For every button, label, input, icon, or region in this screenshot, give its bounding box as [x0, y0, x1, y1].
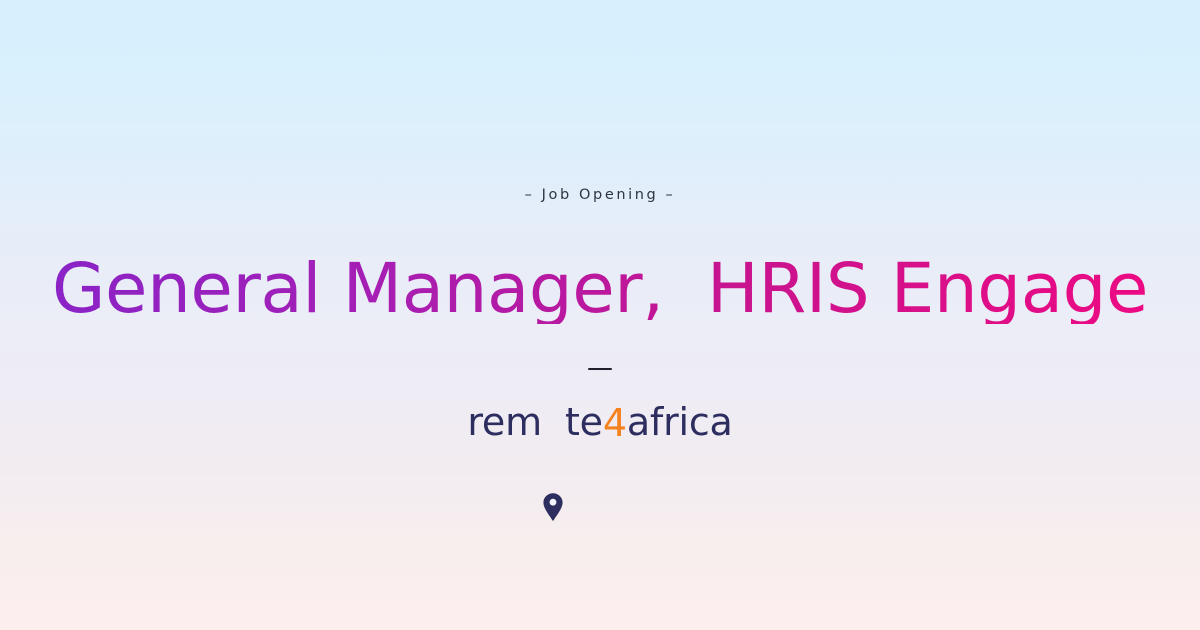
brand-numeral-four: 4	[603, 401, 627, 445]
job-opening-og-card: – Job Opening – General Manager, HRIS En…	[0, 0, 1200, 630]
job-title-block: General Manager, HRIS Engage	[0, 255, 1200, 324]
brand-prefix: rem	[467, 400, 542, 444]
job-title: General Manager, HRIS Engage	[52, 255, 1148, 324]
eyebrow-label: – Job Opening –	[0, 187, 1200, 203]
section-divider	[588, 368, 612, 370]
brand-middle: te	[565, 400, 603, 444]
brand-suffix: africa	[627, 400, 733, 444]
brand-logo[interactable]: rem te 4 africa	[0, 400, 1200, 444]
divider-row	[0, 368, 1200, 370]
map-pin-icon	[542, 404, 564, 434]
